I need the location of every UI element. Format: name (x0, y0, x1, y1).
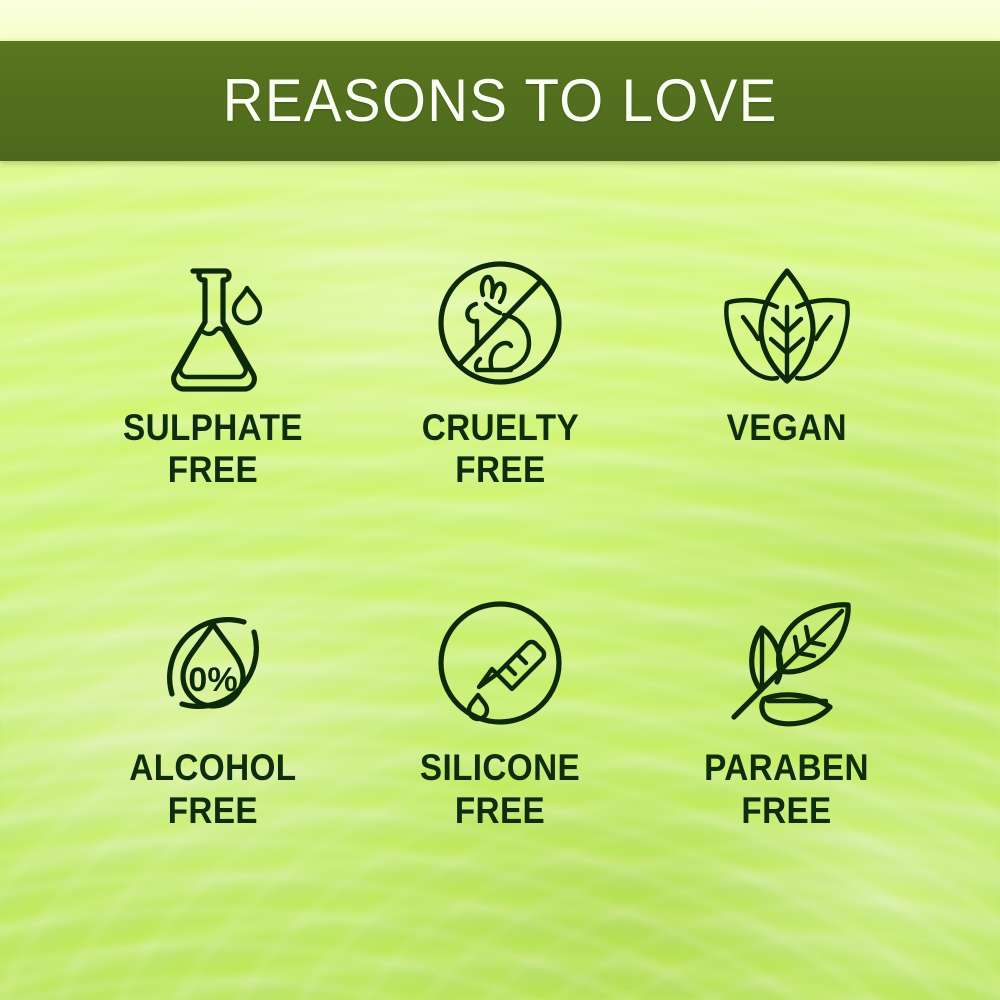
badge-label: SILICONE FREE (420, 747, 580, 831)
badge-label: SULPHATE FREE (123, 407, 303, 491)
badge-silicone-free: SILICONE FREE (357, 595, 644, 831)
badge-vegan: VEGAN (643, 255, 930, 491)
flask-droplet-icon (149, 255, 277, 391)
leaf-branch-icon (718, 595, 856, 731)
no-rabbit-icon (435, 255, 565, 391)
promo-graphic: REASONS TO LOVE SULPHATE FREE (0, 0, 1000, 1000)
badge-label: PARABEN FREE (704, 747, 869, 831)
zero-percent-label: 0% (189, 661, 238, 699)
benefits-grid: SULPHATE FREE (70, 255, 930, 832)
zero-percent-droplet-icon: 0% (148, 595, 278, 731)
badge-paraben-free: PARABEN FREE (643, 595, 930, 831)
badge-alcohol-free: 0% ALCOHOL FREE (70, 595, 357, 831)
three-leaves-icon (721, 255, 853, 391)
badge-cruelty-free: CRUELTY FREE (357, 255, 644, 491)
page-title: REASONS TO LOVE (222, 71, 777, 131)
badge-label: VEGAN (727, 407, 847, 449)
badge-label: ALCOHOL FREE (130, 747, 297, 831)
dropper-pipette-icon (435, 595, 565, 731)
badge-label: CRUELTY FREE (421, 407, 578, 491)
header-banner: REASONS TO LOVE (0, 41, 1000, 161)
badge-sulphate-free: SULPHATE FREE (70, 255, 357, 491)
